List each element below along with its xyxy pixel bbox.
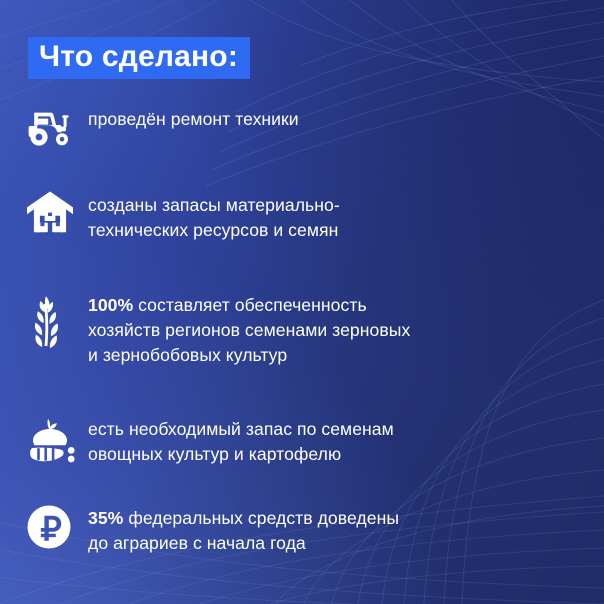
card-content: Что сделано:: [0, 0, 604, 604]
list-item: есть необходимый запас по семенам овощны…: [26, 414, 394, 467]
list-item: созданы запасы материально- технических …: [26, 190, 340, 243]
section-title-badge: Что сделано:: [28, 37, 250, 79]
bullet-3-line-0: есть необходимый запас по семенам: [88, 419, 394, 439]
list-item-text: проведён ремонт техники: [88, 104, 299, 132]
bullet-1-line-0: созданы запасы материально-: [88, 195, 340, 215]
list-item: проведён ремонт техники: [26, 104, 299, 148]
list-item: 35% федеральных средств доведены до агра…: [26, 503, 399, 556]
infographic-card: Что сделано:: [0, 0, 604, 604]
bullet-1-line-1: технических ресурсов и семян: [88, 220, 338, 240]
bullet-2-line-1: хозяйств регионов семенами зерновых: [88, 320, 410, 340]
list-item-text: созданы запасы материально- технических …: [88, 190, 340, 243]
list-item-text: есть необходимый запас по семенам овощны…: [88, 414, 394, 467]
ruble-coin-icon: [26, 503, 88, 550]
bullet-2-line-2: и зернобобовых культур: [88, 345, 287, 365]
list-item-text: 100% составляет обеспеченность хозяйств …: [88, 290, 410, 368]
list-item-text: 35% федеральных средств доведены до агра…: [88, 503, 399, 556]
vegetables-icon: [26, 414, 88, 466]
bullet-4-highlight: 35%: [88, 508, 123, 528]
tractor-icon: [26, 104, 88, 148]
bullet-0-line-0: проведён ремонт техники: [88, 109, 299, 129]
list-item: 100% составляет обеспеченность хозяйств …: [26, 290, 410, 368]
bullet-4-line-0: федеральных средств доведены: [123, 508, 399, 528]
bullet-3-line-1: овощных культур и картофелю: [88, 444, 341, 464]
bullet-4-line-1: до аграриев с начала года: [88, 533, 306, 553]
warehouse-icon: [26, 190, 88, 236]
bullet-2-highlight: 100%: [88, 295, 133, 315]
section-title-text: Что сделано:: [39, 42, 238, 72]
wheat-icon: [26, 290, 88, 350]
bullet-2-line-0: составляет обеспеченность: [133, 295, 366, 315]
